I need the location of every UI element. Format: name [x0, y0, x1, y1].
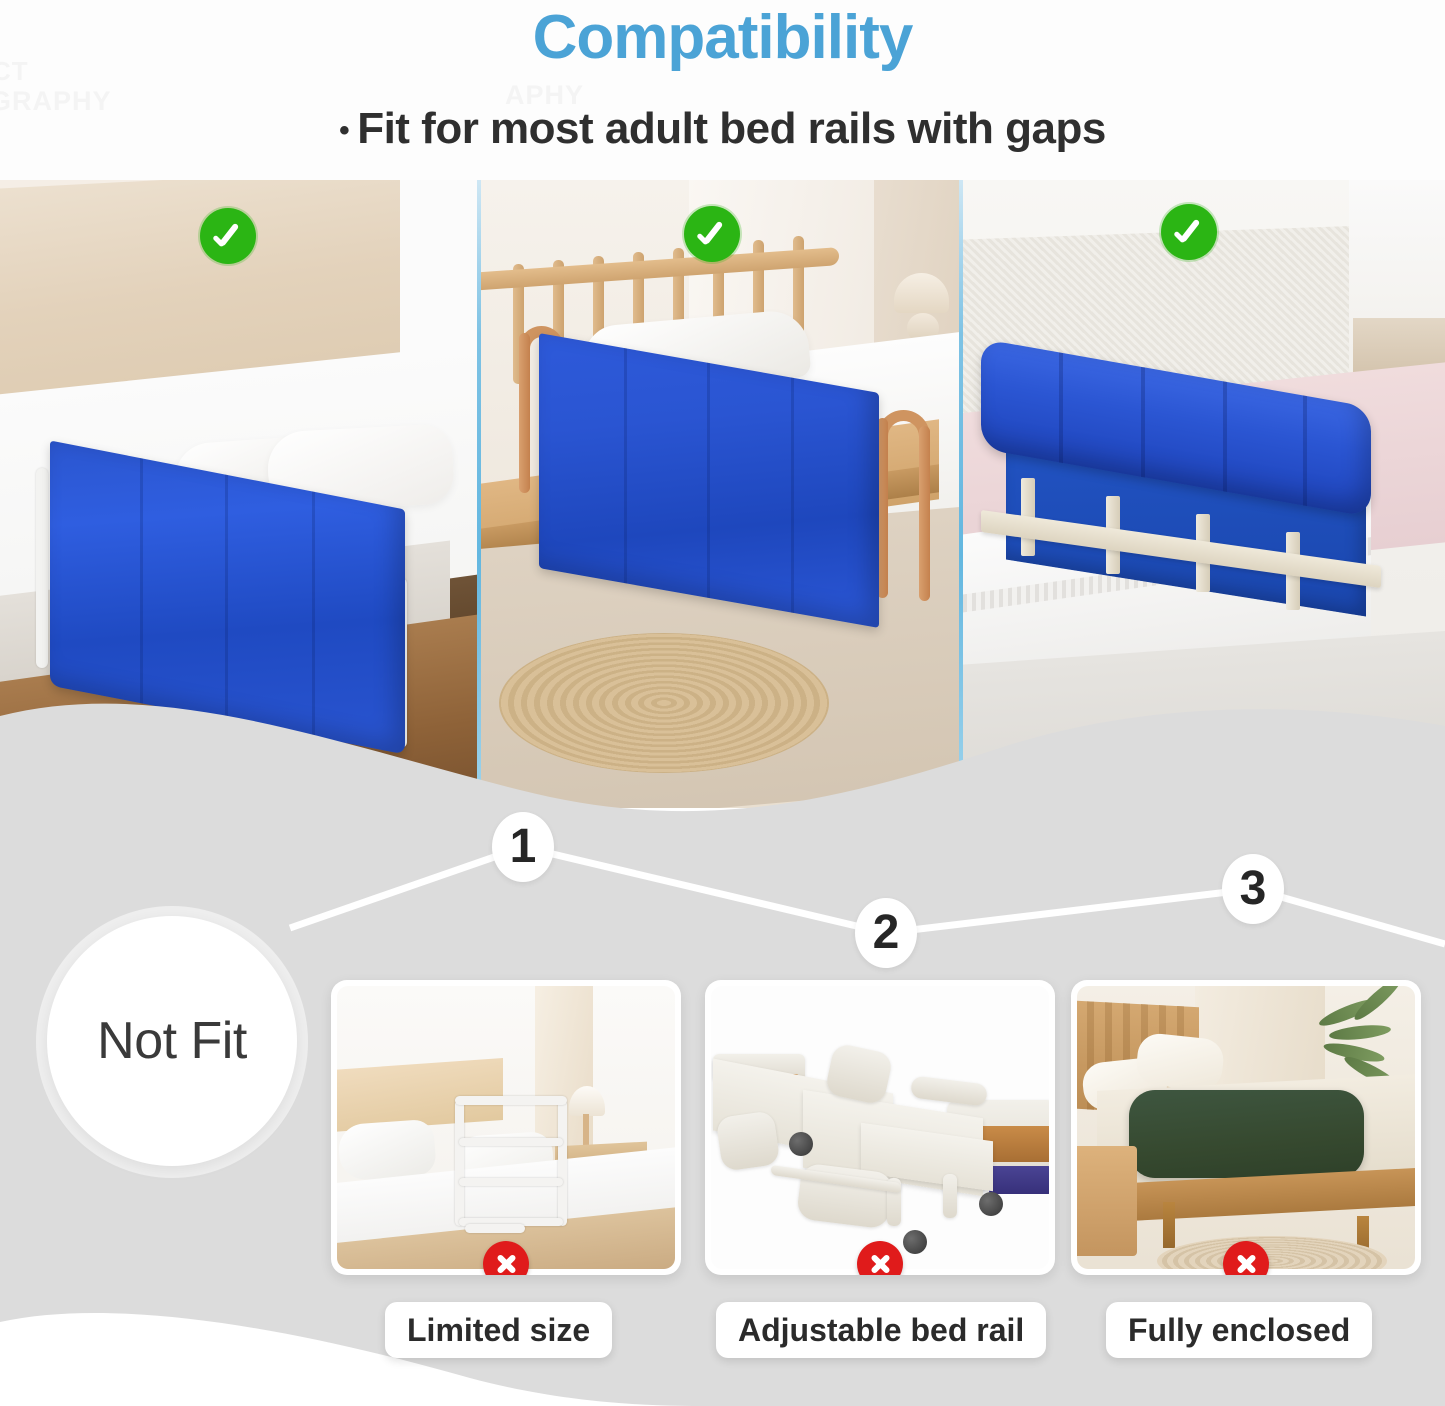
- step-number: 1: [510, 823, 537, 871]
- not-fit-caption-3: Fully enclosed: [1106, 1302, 1372, 1358]
- small-white-bed-rail: [455, 1096, 567, 1226]
- not-fit-photo-2: [711, 986, 1049, 1269]
- nightstand: [1077, 1146, 1137, 1256]
- not-fit-card-3: [1071, 980, 1421, 1275]
- not-fit-card-1: [331, 980, 681, 1275]
- step-number: 3: [1240, 865, 1267, 913]
- not-fit-badge: Not Fit: [47, 916, 297, 1166]
- not-fit-photo-1: [337, 986, 675, 1269]
- green-enclosed-bed-rail: [1129, 1090, 1364, 1178]
- not-fit-caption-1: Limited size: [385, 1302, 612, 1358]
- not-fit-caption-2: Adjustable bed rail: [716, 1302, 1046, 1358]
- not-fit-card-2: [705, 980, 1055, 1275]
- not-fit-photo-3: [1077, 986, 1415, 1269]
- pillow: [1135, 1032, 1226, 1093]
- pillow: [337, 1119, 437, 1182]
- step-badge-2: 2: [855, 898, 917, 968]
- step-badge-3: 3: [1222, 854, 1284, 924]
- step-badge-1: 1: [492, 812, 554, 882]
- not-fit-label: Not Fit: [97, 1011, 247, 1071]
- step-number: 2: [873, 909, 900, 957]
